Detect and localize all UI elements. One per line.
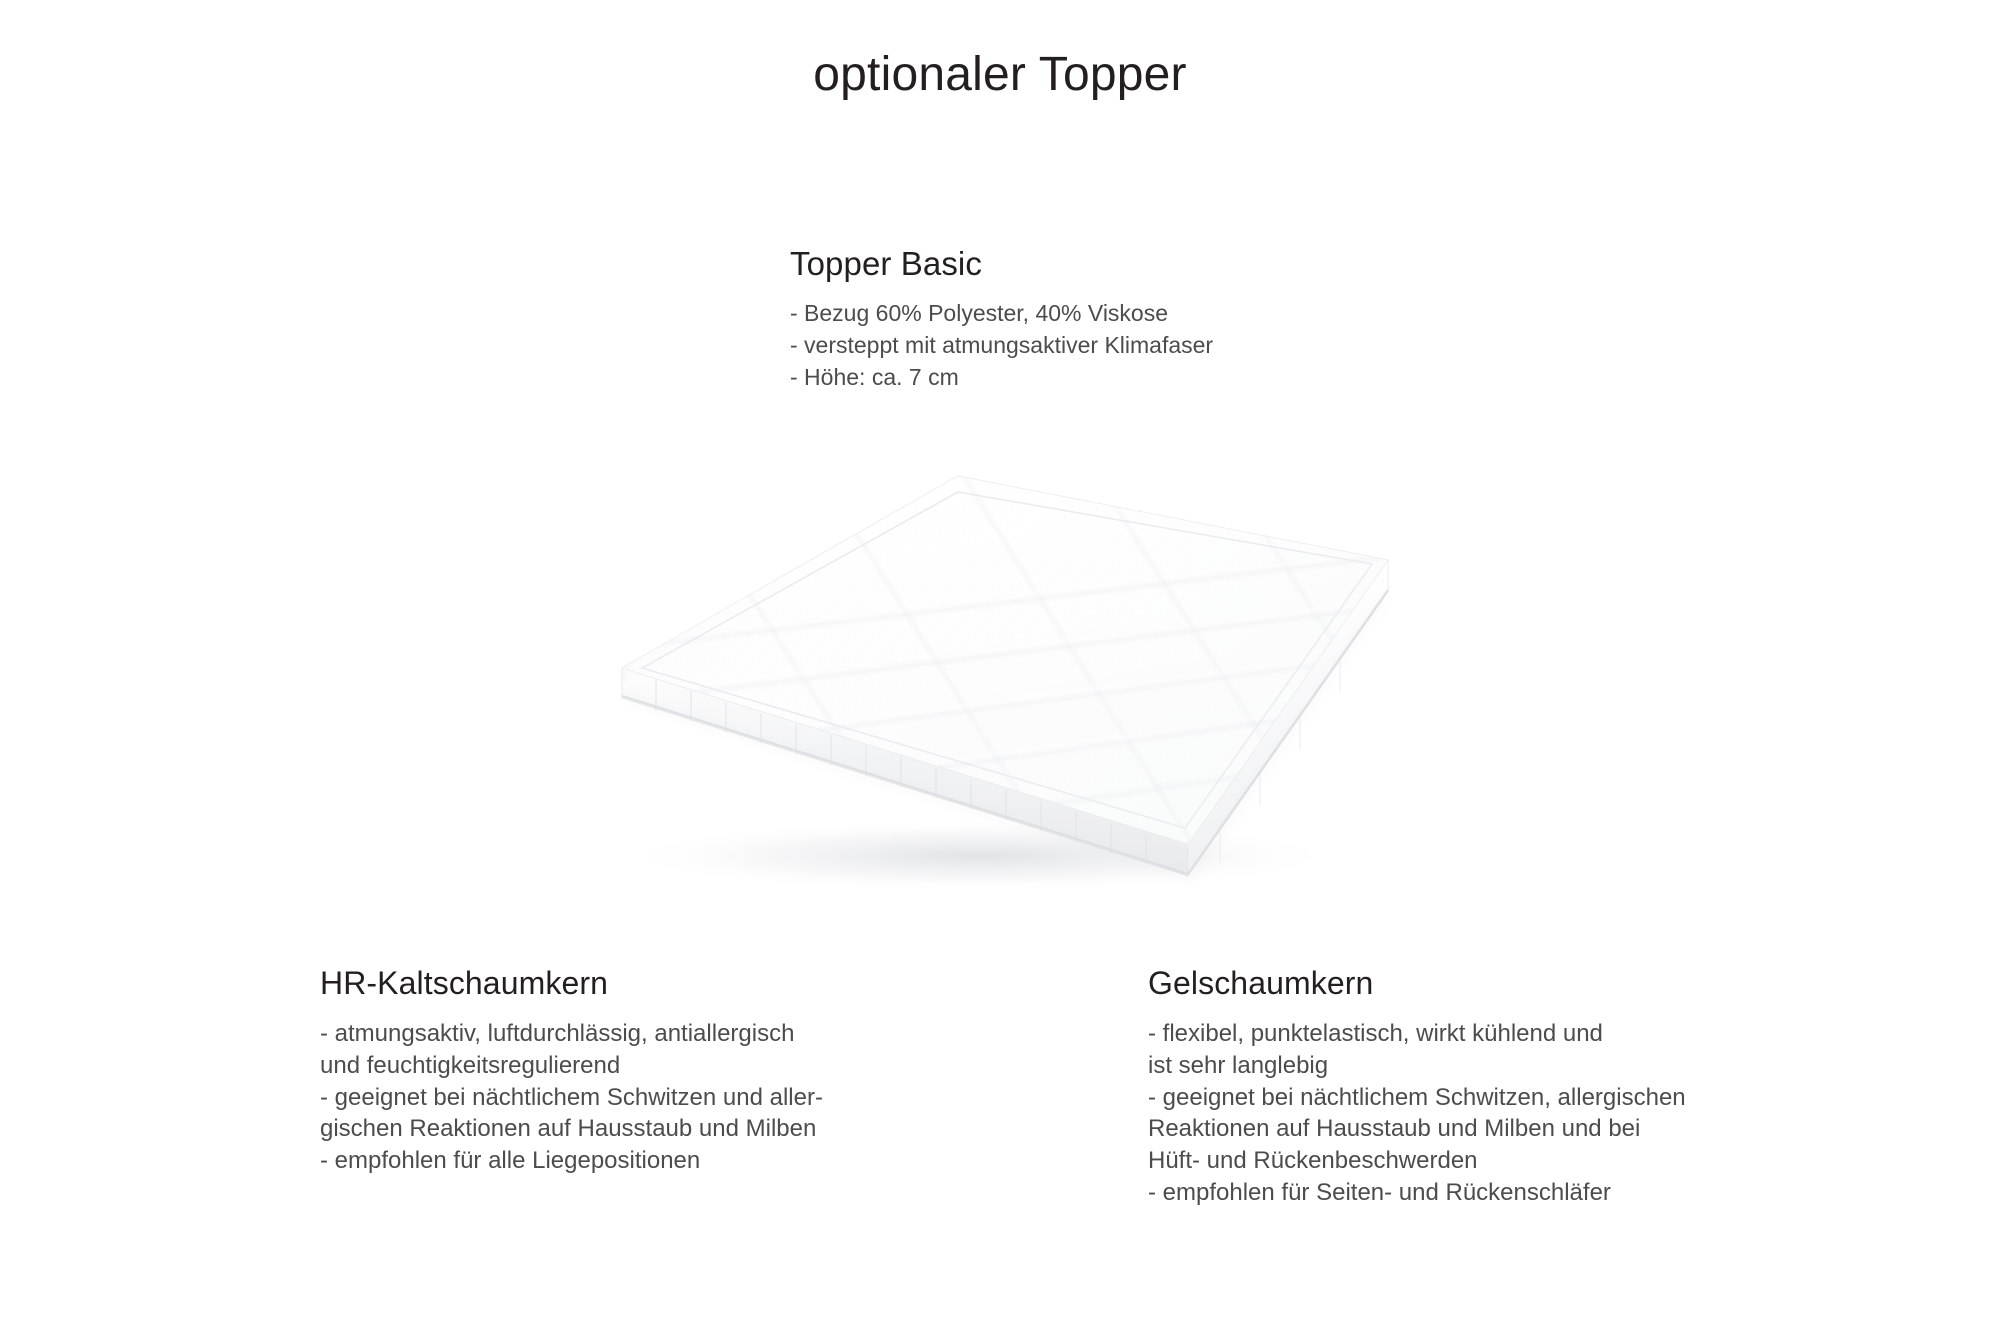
mattress-topper-photo	[560, 440, 1460, 900]
section-topper-basic: Topper Basic - Bezug 60% Polyester, 40% …	[790, 245, 1410, 394]
bullet-list-topper-basic: - Bezug 60% Polyester, 40% Viskose - ver…	[790, 298, 1410, 394]
bullet-list-gelschaumkern: - flexibel, punktelastisch, wirkt kühlen…	[1148, 1018, 1768, 1209]
list-item: - flexibel, punktelastisch, wirkt kühlen…	[1148, 1018, 1768, 1082]
list-item: - geeignet bei nächtlichem Schwitzen, al…	[1148, 1082, 1768, 1178]
section-heading-topper-basic: Topper Basic	[790, 245, 1410, 284]
list-item: - geeignet bei nächtlichem Schwitzen und…	[320, 1082, 920, 1146]
bullet-list-hr-kaltschaumkern: - atmungsaktiv, luftdurchlässig, antiall…	[320, 1018, 920, 1178]
list-item: - empfohlen für alle Liegepositionen	[320, 1145, 920, 1177]
list-item: - empfohlen für Seiten- und Rückenschläf…	[1148, 1177, 1768, 1209]
list-item: - atmungsaktiv, luftdurchlässig, antiall…	[320, 1018, 920, 1082]
section-gelschaumkern: Gelschaumkern - flexibel, punktelastisch…	[1148, 965, 1768, 1209]
page-root: optionaler Topper Topper Basic - Bezug 6…	[0, 0, 2000, 1333]
list-item: - Höhe: ca. 7 cm	[790, 362, 1410, 394]
section-heading-hr-kaltschaumkern: HR-Kaltschaumkern	[320, 965, 920, 1003]
section-heading-gelschaumkern: Gelschaumkern	[1148, 965, 1768, 1003]
page-title: optionaler Topper	[0, 48, 2000, 102]
section-hr-kaltschaumkern: HR-Kaltschaumkern - atmungsaktiv, luftdu…	[320, 965, 920, 1177]
list-item: - Bezug 60% Polyester, 40% Viskose	[790, 298, 1410, 330]
list-item: - versteppt mit atmungsaktiver Klimafase…	[790, 330, 1410, 362]
